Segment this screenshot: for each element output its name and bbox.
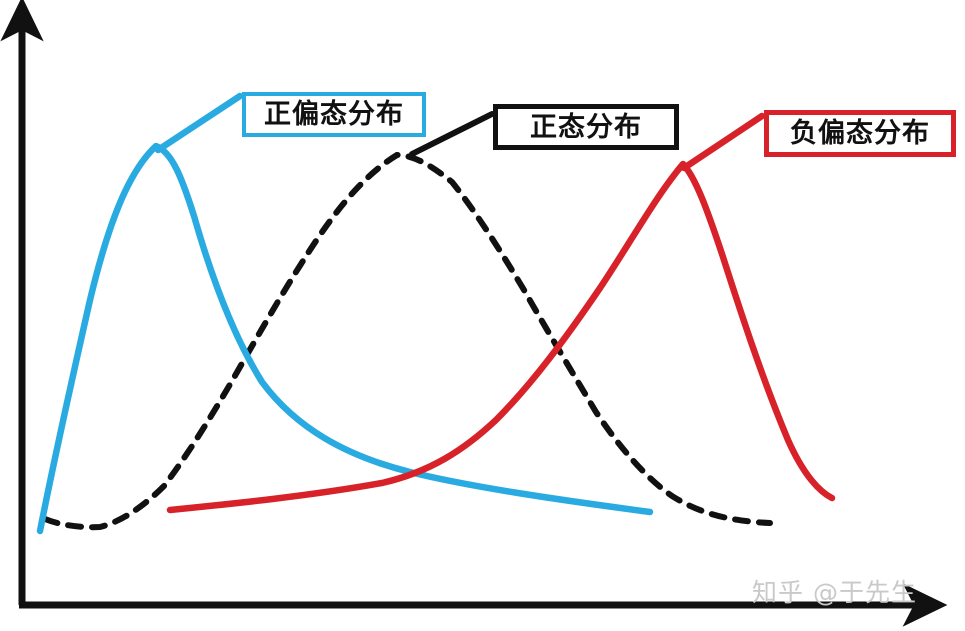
- label-normal-distribution: 正态分布: [493, 104, 679, 150]
- negative-skew-curve: [170, 164, 832, 510]
- series-normal-distribution: [45, 114, 770, 527]
- label-positive-skew-text: 正偏态分布: [264, 101, 404, 128]
- plot-canvas: [0, 0, 965, 631]
- positive-skew-callout-leader: [158, 96, 240, 150]
- watermark: 知乎 @于先生: [752, 573, 917, 609]
- negative-skew-callout-leader: [684, 116, 762, 168]
- label-negative-skew-text: 负偏态分布: [790, 120, 930, 147]
- label-positive-skew: 正偏态分布: [242, 92, 426, 137]
- label-normal-distribution-text: 正态分布: [530, 114, 642, 141]
- skewness-distribution-figure: 正偏态分布 正态分布 负偏态分布 知乎 @于先生: [0, 0, 965, 631]
- label-negative-skew: 负偏态分布: [764, 110, 956, 157]
- series-positive-skew-distribution: [40, 96, 650, 531]
